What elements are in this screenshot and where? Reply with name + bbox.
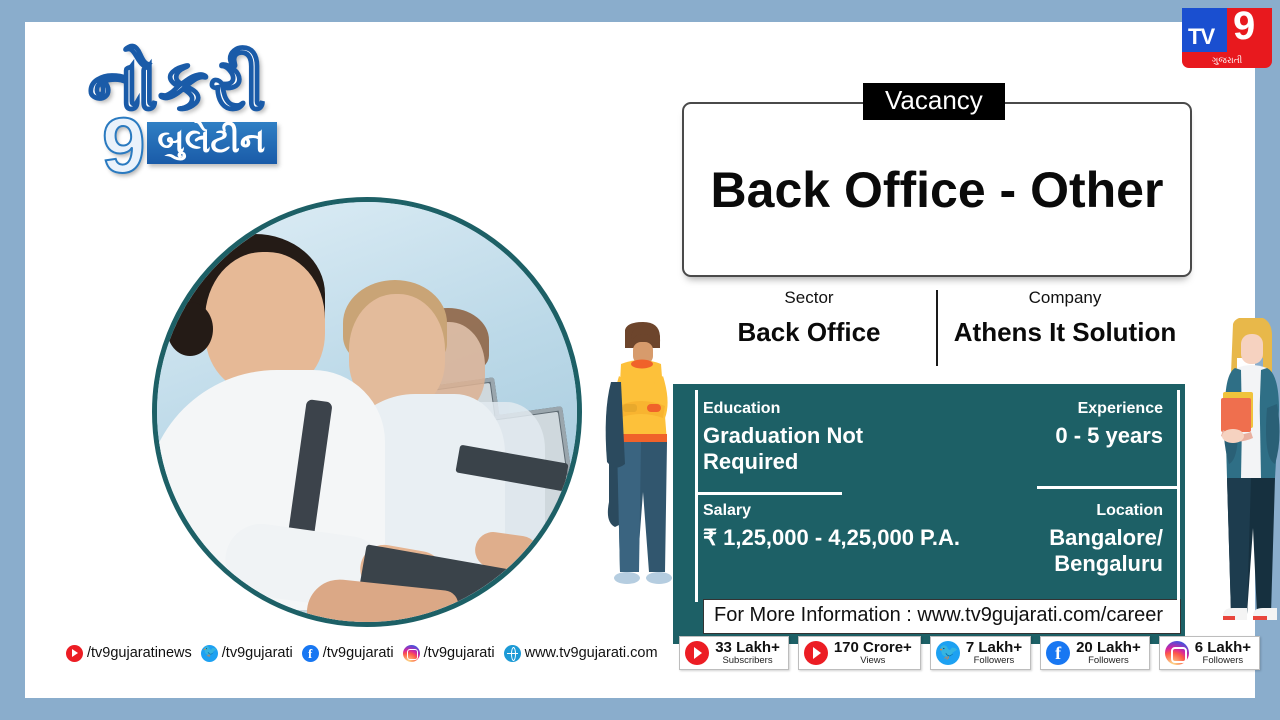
- experience-cell: Experience 0 - 5 years: [963, 400, 1163, 449]
- tv9-logo-left: TV: [1182, 8, 1227, 52]
- education-label: Education: [703, 400, 953, 418]
- location-label: Location: [983, 502, 1163, 520]
- female-student-illustration: [1213, 318, 1280, 654]
- instagram-icon: [403, 645, 420, 662]
- details-grid: Education Graduation Not Required Experi…: [703, 392, 1163, 600]
- sector-value: Back Office: [682, 317, 936, 348]
- panel-divider-left: [697, 492, 842, 495]
- office-photo: [152, 197, 582, 627]
- company-cell: Company Athens It Solution: [938, 288, 1192, 370]
- twitter-icon: [936, 641, 960, 665]
- youtube-icon: [804, 641, 828, 665]
- experience-label: Experience: [963, 400, 1163, 418]
- facebook-icon: f: [1046, 641, 1070, 665]
- salary-label: Salary: [703, 502, 963, 520]
- tv9-logo-nine-text: 9: [1233, 4, 1255, 49]
- company-value: Athens It Solution: [938, 317, 1192, 348]
- handle-instagram[interactable]: /tv9gujarati: [403, 645, 495, 662]
- badge-twitter-followers: 7 Lakh+ Followers: [930, 636, 1031, 670]
- poster-card: નોકરી 9 બુલેટીન: [25, 22, 1255, 698]
- job-title: Back Office - Other: [693, 161, 1182, 219]
- badge-instagram-followers: 6 Lakh+ Followers: [1159, 636, 1260, 670]
- badge-yt-subs-label: Subscribers: [715, 656, 780, 666]
- badge-tw-label: Followers: [966, 656, 1022, 666]
- location-value: Bangalore/ Bengaluru: [983, 525, 1163, 578]
- youtube-icon: [66, 645, 83, 662]
- tv9-logo-tv-text: TV: [1188, 24, 1214, 50]
- badge-youtube-subscribers: 33 Lakh+ Subscribers: [679, 636, 789, 670]
- badge-ig-count: 6 Lakh+: [1195, 640, 1251, 656]
- nokri-logo-subrow: 9 બુલેટીન: [70, 114, 340, 164]
- badge-yt-views-count: 170 Crore+: [834, 640, 912, 656]
- handle-instagram-text: /tv9gujarati: [424, 645, 495, 661]
- location-cell: Location Bangalore/ Bengaluru: [983, 502, 1163, 578]
- nokri-logo-nine: 9: [102, 114, 145, 178]
- instagram-icon: [1165, 641, 1189, 665]
- vacancy-badge: Vacancy: [863, 83, 1005, 120]
- company-label: Company: [938, 288, 1192, 308]
- handle-website-text: www.tv9gujarati.com: [525, 645, 658, 661]
- panel-left-rule: [695, 390, 698, 602]
- experience-value: 0 - 5 years: [963, 423, 1163, 449]
- handle-facebook[interactable]: f /tv9gujarati: [302, 645, 394, 662]
- social-stat-badges: 33 Lakh+ Subscribers 170 Crore+ Views 7 …: [679, 636, 1280, 670]
- handle-youtube-text: /tv9gujaratinews: [87, 645, 192, 661]
- more-information-bar[interactable]: For More Information : www.tv9gujarati.c…: [703, 599, 1181, 634]
- youtube-icon: [685, 641, 709, 665]
- social-footer: /tv9gujaratinews /tv9gujarati f /tv9guja…: [50, 630, 1280, 676]
- tv9-gujarati-logo: TV 9 ગુજરાતી: [1182, 8, 1272, 66]
- male-student-illustration: [603, 322, 677, 650]
- tv9-logo-right: 9: [1227, 8, 1272, 52]
- badge-facebook-followers: f 20 Lakh+ Followers: [1040, 636, 1150, 670]
- education-cell: Education Graduation Not Required: [703, 400, 953, 476]
- badge-yt-subs-count: 33 Lakh+: [715, 640, 780, 656]
- salary-value: ₹ 1,25,000 - 4,25,000 P.A.: [703, 525, 963, 551]
- salary-cell: Salary ₹ 1,25,000 - 4,25,000 P.A.: [703, 502, 963, 551]
- sector-cell: Sector Back Office: [682, 288, 936, 370]
- nokri-bulletin-logo: નોકરી 9 બુલેટીન: [70, 50, 340, 240]
- badge-tw-count: 7 Lakh+: [966, 640, 1022, 656]
- job-title-box: Back Office - Other: [682, 102, 1192, 277]
- handle-twitter-text: /tv9gujarati: [222, 645, 293, 661]
- sector-company-row: Sector Back Office Company Athens It Sol…: [682, 288, 1192, 370]
- tv9-logo-language: ગુજરાતી: [1182, 52, 1272, 68]
- nokri-logo-bulletin-label: બુલેટીન: [147, 122, 277, 164]
- badge-youtube-views: 170 Crore+ Views: [798, 636, 921, 670]
- handle-website[interactable]: www.tv9gujarati.com: [504, 645, 658, 662]
- job-details-panel: Education Graduation Not Required Experi…: [673, 384, 1185, 644]
- handle-youtube[interactable]: /tv9gujaratinews: [66, 645, 192, 662]
- badge-ig-label: Followers: [1195, 656, 1251, 666]
- education-value: Graduation Not Required: [703, 423, 953, 476]
- panel-divider-right: [1037, 486, 1177, 489]
- panel-right-rule: [1177, 390, 1180, 602]
- social-handles: /tv9gujaratinews /tv9gujarati f /tv9guja…: [50, 645, 658, 662]
- twitter-icon: [201, 645, 218, 662]
- sector-label: Sector: [682, 288, 936, 308]
- badge-fb-label: Followers: [1076, 656, 1141, 666]
- badge-yt-views-label: Views: [834, 656, 912, 666]
- tv9-logo-box: TV 9: [1182, 8, 1272, 52]
- facebook-icon: f: [302, 645, 319, 662]
- badge-fb-count: 20 Lakh+: [1076, 640, 1141, 656]
- handle-facebook-text: /tv9gujarati: [323, 645, 394, 661]
- globe-icon: [504, 645, 521, 662]
- handle-twitter[interactable]: /tv9gujarati: [201, 645, 293, 662]
